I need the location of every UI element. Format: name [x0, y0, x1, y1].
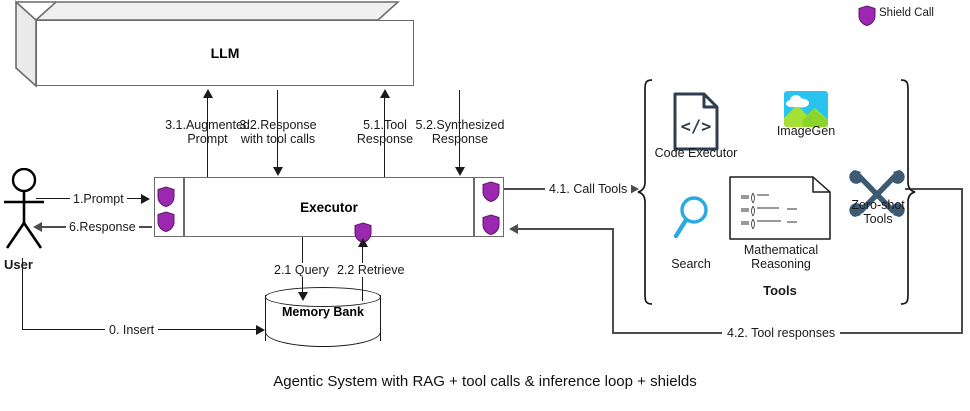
llm-node: LLM [0, 0, 400, 88]
memory-bank-label: Memory Bank [265, 305, 381, 319]
svg-text:</>: </> [681, 117, 712, 137]
edge-label-resp-tool-2: with tool calls [214, 132, 342, 146]
user-label: User [4, 258, 33, 272]
edge-tool-resp-arrowhead [380, 89, 390, 98]
edge-query-arrowhead [298, 292, 308, 301]
cylinder-bottom [265, 321, 381, 347]
edge-tool-resp-left-vline [612, 228, 614, 333]
edge-retrieve-arrowhead [358, 238, 368, 247]
user-stick-figure [2, 168, 62, 258]
edge-label-insert: 0. Insert [105, 323, 158, 337]
edge-label-call-tools: 4.1. Call Tools [545, 182, 631, 196]
legend-label: Shield Call [879, 7, 934, 19]
tool-label-code-executor: Code Executor [646, 146, 746, 160]
cylinder-top [265, 287, 381, 307]
shield-icon-legend [858, 5, 876, 26]
edge-label-query: 2.1 Query [272, 263, 331, 277]
edge-prompt-arrowhead [141, 194, 150, 204]
edge-insert-vline [22, 258, 23, 330]
math-document-icon [729, 176, 832, 241]
memory-bank-node: Memory Bank [265, 287, 381, 349]
tool-label-math-1: Mathematical [725, 243, 837, 257]
shield-icon-exec-in-1 [157, 186, 175, 207]
image-icon [783, 90, 829, 128]
tool-label-imagegen: ImageGen [756, 124, 856, 138]
executor-node: Executor [154, 177, 504, 237]
edge-label-resp-tool-1: 3.2.Response [214, 118, 342, 132]
tools-group-label: Tools [720, 284, 840, 298]
code-document-icon: </> [672, 92, 720, 152]
edge-insert-arrowhead [256, 325, 265, 335]
edge-synth-arrowhead [455, 167, 465, 176]
tool-label-zeroshot-2: Tools [834, 212, 922, 226]
llm-label: LLM [36, 20, 414, 86]
magnifier-icon [673, 194, 713, 240]
diagram-caption: Agentic System with RAG + tool calls & i… [0, 373, 970, 390]
edge-label-synth-2: Response [400, 132, 520, 146]
tool-label-zeroshot-1: Zero-shot [834, 198, 922, 212]
shield-icon-exec-out-2 [482, 214, 500, 235]
edge-label-retrieve: 2.2 Retrieve [335, 263, 406, 277]
edge-tool-resp-right-vline [961, 188, 963, 333]
shield-icon-exec-in-2 [157, 211, 175, 232]
edge-label-prompt: 1.Prompt [70, 192, 127, 206]
edge-label-tool-responses: 4.2. Tool responses [722, 326, 840, 340]
tools-left-brace [636, 78, 654, 308]
edge-label-response: 6.Response [66, 220, 139, 234]
executor-label: Executor [155, 178, 503, 236]
tool-label-math-2: Reasoning [725, 257, 837, 271]
edge-response-arrowhead [33, 222, 42, 232]
edge-label-synth-1: 5.2.Synthesized [400, 118, 520, 132]
edge-aug-prompt-arrowhead [203, 89, 213, 98]
edge-resp-tool-arrowhead [273, 167, 283, 176]
edge-tool-responses-arrowhead [509, 224, 518, 234]
tool-label-search: Search [645, 257, 737, 271]
shield-icon-exec-out-1 [482, 181, 500, 202]
edge-tool-resp-into-exec [516, 228, 613, 230]
